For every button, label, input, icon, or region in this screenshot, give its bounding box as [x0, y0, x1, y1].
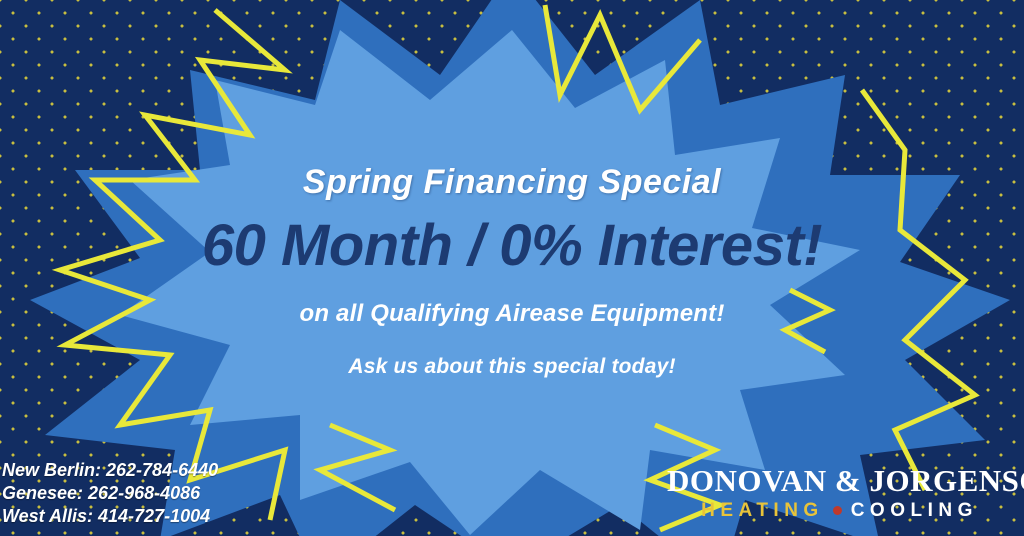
- logo-heating-label: HEATING: [701, 500, 824, 522]
- phone-genesee[interactable]: Genesee: 262-968-4086: [2, 482, 302, 505]
- phone-list: New Berlin: 262-784-6440 Genesee: 262-96…: [0, 459, 302, 528]
- logo-company-name: DONOVAN & JORGENSON: [667, 464, 1012, 498]
- logo-separator-dot-icon: [833, 506, 842, 515]
- company-logo: DONOVAN & JORGENSON HEATING COOLING: [667, 464, 1012, 522]
- phone-new-berlin[interactable]: New Berlin: 262-784-6440: [2, 459, 302, 482]
- promo-banner: Spring Financing Special 60 Month / 0% I…: [0, 0, 1024, 536]
- starburst-graphic: [0, 0, 1024, 536]
- logo-cooling-label: COOLING: [851, 500, 978, 522]
- phone-west-allis[interactable]: West Allis: 414-727-1004: [2, 505, 302, 528]
- logo-services: HEATING COOLING: [667, 500, 1012, 522]
